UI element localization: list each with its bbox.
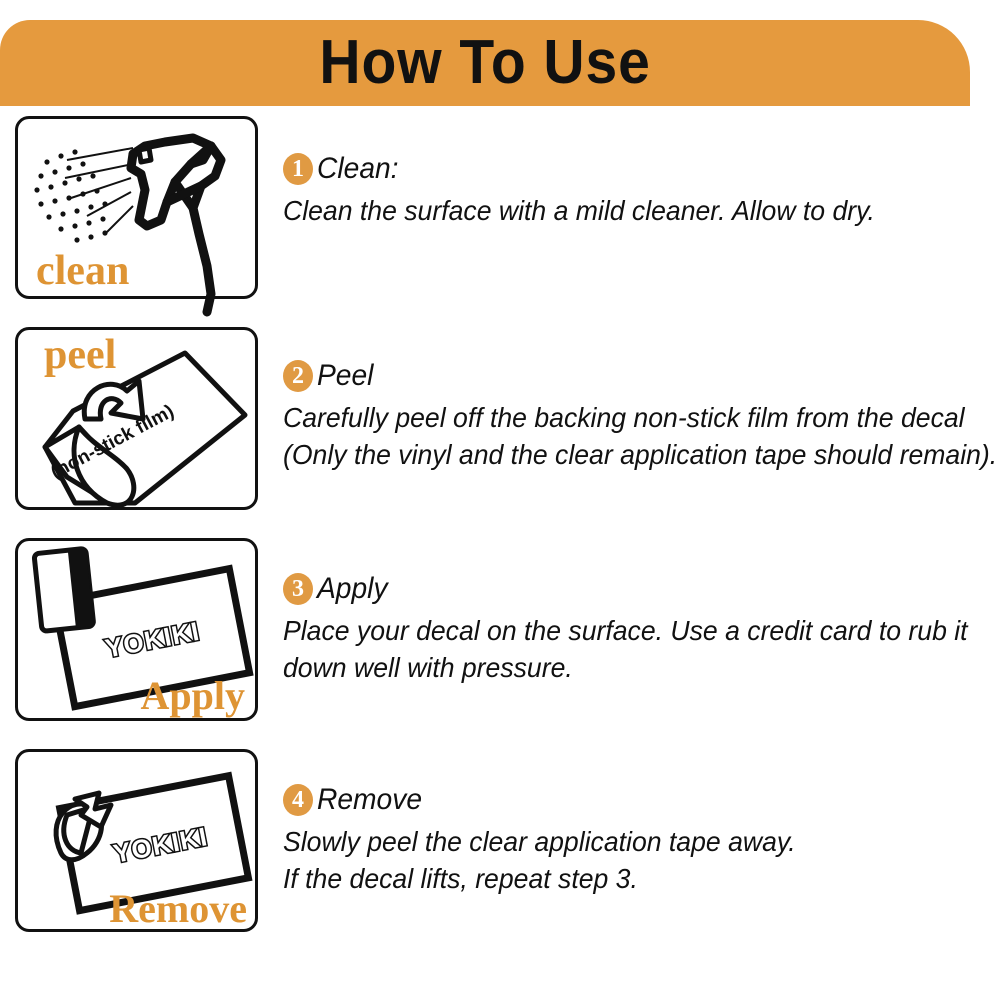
step-number-badge: 4	[283, 784, 313, 816]
step-heading-row: 4 Remove	[283, 783, 994, 817]
step-body-line: Clean the surface with a mild cleaner. A…	[283, 192, 958, 229]
step-number-badge: 3	[283, 573, 313, 605]
step-body-line: (Only the vinyl and the clear applicatio…	[283, 436, 958, 473]
illustration-panel-clean: clean	[15, 116, 258, 299]
header-banner: How To Use	[0, 20, 970, 106]
panel-caption: Remove	[109, 889, 247, 929]
panel-caption: clean	[36, 250, 129, 292]
page-title: How To Use	[319, 32, 650, 94]
illustration-panel-peel: (non-stick film) peel	[15, 327, 258, 510]
step-row: YOKIKI Apply 3 Apply Place your decal on…	[0, 532, 1000, 743]
step-body-line: Place your decal on the surface. Use a c…	[283, 612, 958, 649]
step-heading: Remove	[317, 783, 422, 817]
illustration-panel-apply: YOKIKI Apply	[15, 538, 258, 721]
step-body-line: Carefully peel off the backing non-stick…	[283, 399, 958, 436]
step-number-badge: 1	[283, 153, 313, 185]
step-text-remove: 4 Remove Slowly peel the clear applicati…	[283, 783, 994, 897]
step-heading-row: 3 Apply	[283, 572, 994, 606]
step-number-badge: 2	[283, 360, 313, 392]
step-row: (non-stick film) peel 2 Peel Carefully p…	[0, 321, 1000, 532]
step-heading: Clean:	[317, 152, 399, 186]
step-text-peel: 2 Peel Carefully peel off the backing no…	[283, 359, 994, 473]
step-heading: Peel	[317, 359, 373, 393]
step-heading: Apply	[317, 572, 388, 606]
panel-caption: peel	[44, 334, 116, 376]
step-text-apply: 3 Apply Place your decal on the surface.…	[283, 572, 994, 686]
illustration-panel-remove: YOKIKI Remove	[15, 749, 258, 932]
step-heading-row: 1 Clean:	[283, 152, 994, 186]
step-text-clean: 1 Clean: Clean the surface with a mild c…	[283, 152, 994, 229]
panel-caption: Apply	[141, 676, 246, 716]
step-row: YOKIKI Remove 4 Remove Slowly peel the c…	[0, 743, 1000, 954]
step-body-line: down well with pressure.	[283, 649, 958, 686]
step-body-line: Slowly peel the clear application tape a…	[283, 823, 958, 860]
step-heading-row: 2 Peel	[283, 359, 994, 393]
step-row: clean 1 Clean: Clean the surface with a …	[0, 110, 1000, 321]
step-body-line: If the decal lifts, repeat step 3.	[283, 860, 958, 897]
steps-list: clean 1 Clean: Clean the surface with a …	[0, 110, 1000, 954]
